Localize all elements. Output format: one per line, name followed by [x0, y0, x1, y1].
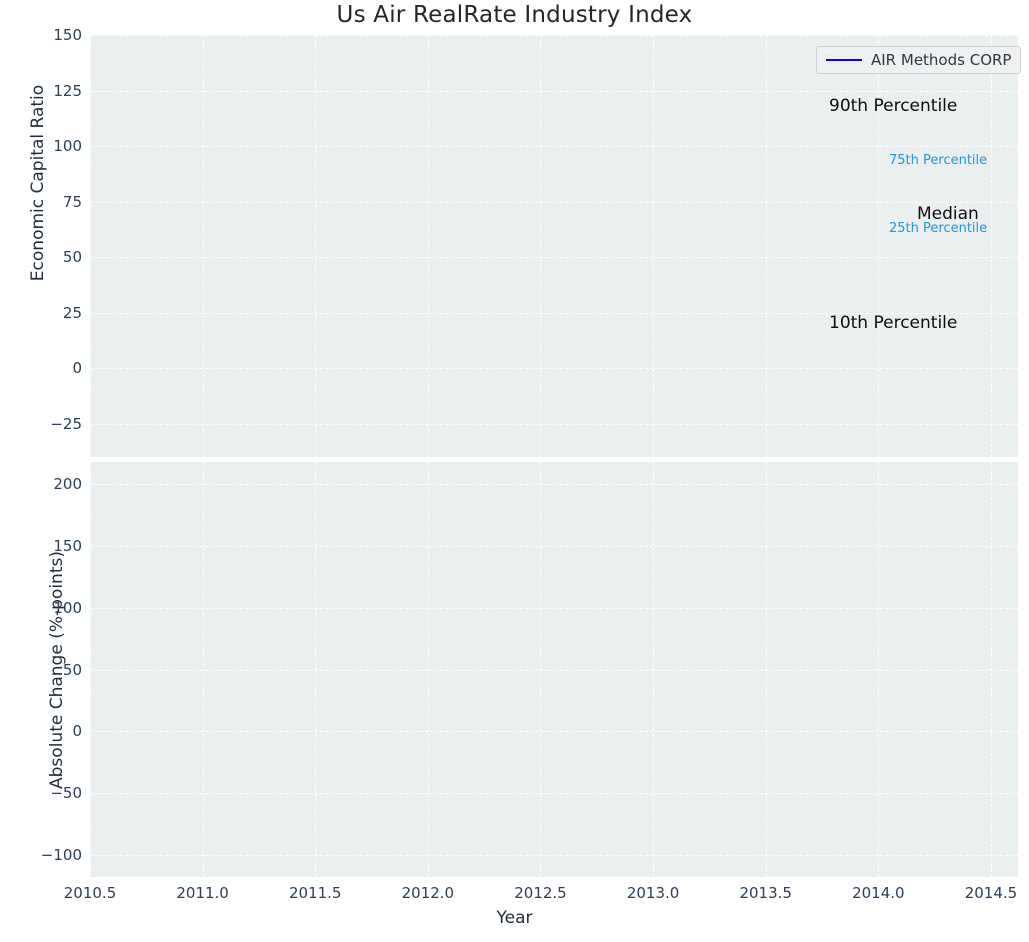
- annotation-90th-percentile: 90th Percentile: [829, 96, 957, 116]
- x-tick-label-1: 2011.0: [143, 884, 263, 902]
- x-tick-label-2: 2011.5: [255, 884, 375, 902]
- y-tick-label-top-3: 75: [10, 193, 82, 211]
- x-tick-label-5: 2013.0: [593, 884, 713, 902]
- gridline-v: [991, 462, 992, 877]
- annotation-10th-percentile: 10th Percentile: [829, 313, 957, 333]
- y-tick-label-top-0: 150: [10, 26, 82, 44]
- y-tick-label-bottom-6: −100: [10, 846, 82, 864]
- gridline-v: [428, 35, 429, 457]
- gridline-v: [315, 462, 316, 877]
- legend-swatch-line-icon: [826, 59, 862, 61]
- y-tick-label-bottom-1: 150: [10, 537, 82, 555]
- y-tick-label-bottom-5: −50: [10, 784, 82, 802]
- x-tick-label-6: 2013.5: [706, 884, 826, 902]
- gridline-v: [766, 462, 767, 877]
- legend[interactable]: AIR Methods CORP: [816, 46, 1021, 74]
- legend-label-0: AIR Methods CORP: [871, 51, 1011, 69]
- y-tick-label-bottom-3: 50: [10, 661, 82, 679]
- gridline-v: [766, 35, 767, 457]
- y-tick-label-bottom-4: 0: [10, 722, 82, 740]
- x-tick-label-3: 2012.0: [368, 884, 488, 902]
- gridline-v: [203, 35, 204, 457]
- gridline-v: [90, 35, 91, 457]
- y-tick-label-bottom-2: 100: [10, 599, 82, 617]
- gridline-v: [90, 462, 91, 877]
- y-tick-label-top-2: 100: [10, 137, 82, 155]
- y-tick-label-top-4: 50: [10, 248, 82, 266]
- y-tick-label-top-1: 125: [10, 82, 82, 100]
- x-tick-label-7: 2014.0: [818, 884, 938, 902]
- x-axis-label: Year: [0, 908, 1029, 928]
- gridline-v: [203, 462, 204, 877]
- y-tick-label-top-7: −25: [10, 415, 82, 433]
- annotation-25th-percentile: 25th Percentile: [889, 221, 987, 236]
- panel-absolute-change: [90, 462, 1018, 877]
- gridline-v: [991, 35, 992, 457]
- gridline-v: [653, 462, 654, 877]
- y-tick-label-top-6: 0: [10, 359, 82, 377]
- chart-root: Us Air RealRate Industry Index Economic …: [0, 0, 1029, 942]
- y-tick-label-bottom-0: 200: [10, 475, 82, 493]
- y-tick-label-top-5: 25: [10, 304, 82, 322]
- gridline-v: [540, 35, 541, 457]
- x-tick-label-0: 2010.5: [30, 884, 150, 902]
- gridline-v: [653, 35, 654, 457]
- gridline-v: [878, 462, 879, 877]
- page-title: Us Air RealRate Industry Index: [0, 2, 1029, 28]
- x-tick-label-8: 2014.5: [931, 884, 1029, 902]
- gridline-v: [540, 462, 541, 877]
- annotation-75th-percentile: 75th Percentile: [889, 153, 987, 168]
- gridline-v: [315, 35, 316, 457]
- gridline-v: [428, 462, 429, 877]
- x-tick-label-4: 2012.5: [480, 884, 600, 902]
